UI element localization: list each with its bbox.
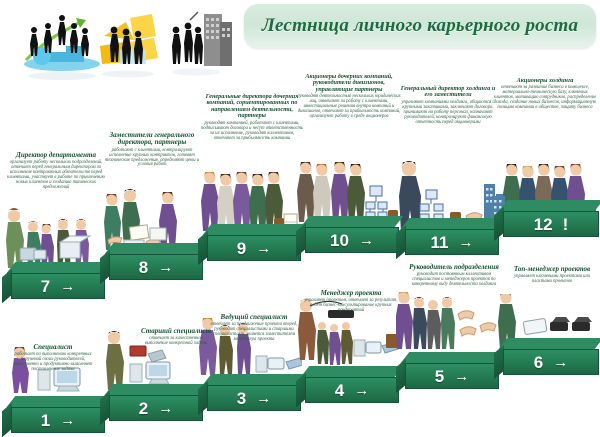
step-8-number: 8	[139, 259, 148, 276]
step-12-body: отвечают за развитие бизнеса в комплексе…	[492, 85, 598, 110]
step-2-title: Старший специалист	[140, 328, 212, 335]
step-9-arrow-icon: →	[256, 241, 271, 256]
step-12-exclamation-icon: !	[563, 216, 569, 233]
step-12-text: Акционеры холдинга отвечают за развитие …	[492, 78, 598, 110]
step-3-number: 3	[237, 390, 246, 407]
step-6-body: управляет ключевыми проектами или пласта…	[508, 274, 596, 284]
step-3-title: Ведущий специалист	[204, 314, 304, 321]
step-4-title: Менеджер проекта	[304, 290, 398, 297]
page-title: Лестница личного карьерного роста	[262, 15, 578, 37]
step-1-arrow-icon: →	[60, 413, 75, 428]
step-9-body: руководят компанией, работают с клиентам…	[200, 121, 304, 141]
step-4-text: Менеджер проекта управляет проектом, отв…	[304, 290, 398, 313]
step-2-arrow-icon: →	[158, 401, 173, 416]
figure-cluster-7	[2, 196, 106, 270]
step-12-number: 12	[534, 216, 553, 233]
step-4-body: управляет проектом, отвечает за результа…	[304, 298, 398, 313]
step-10-arrow-icon: →	[359, 233, 374, 248]
step-6-arrow-icon: →	[553, 355, 568, 370]
step-4-arrow-icon: →	[354, 383, 369, 398]
figure-cluster-5	[396, 292, 500, 352]
step-9-text: Генеральные директора дочерних компаний,…	[200, 94, 304, 141]
step-2-number: 2	[139, 400, 148, 417]
step-7-title: Директор департамента	[6, 152, 106, 159]
step-8-body: работают с клиентами, контролируют испол…	[102, 148, 202, 168]
step-6-number: 6	[534, 354, 543, 371]
step-11-body: управляют компаниями холдинга, общаются …	[398, 100, 498, 125]
step-12-title: Акционеры холдинга	[492, 78, 598, 84]
step-1-number: 1	[41, 412, 50, 429]
step-7-body: организует работу нескольких подразделен…	[6, 160, 106, 190]
step-2-body: отвечает за качественное выполнение конк…	[140, 336, 212, 346]
step-5-body: руководит постоянным коллективом специал…	[408, 272, 500, 287]
step-5-text: Руководитель подразделения руководит пос…	[408, 264, 500, 287]
step-3-arrow-icon: →	[256, 391, 271, 406]
step-1-title: Специалист	[8, 344, 98, 351]
step-11-number: 11	[431, 234, 449, 251]
step-2-text: Старший специалист отвечает за качествен…	[140, 328, 212, 346]
step-8-title: Заместители генерального директора, парт…	[102, 132, 202, 147]
career-ladder-infographic: Директор департамента организует работу …	[0, 0, 600, 436]
step-8-arrow-icon: →	[158, 260, 173, 275]
step-7-arrow-icon: →	[60, 279, 75, 294]
step-10-body: руководят деятельностью нескольких юриди…	[296, 94, 402, 119]
step-6-text: Топ-менеджер проектов управляет ключевым…	[508, 266, 596, 284]
step-3-text: Ведущий специалист отвечает за продвижен…	[204, 314, 304, 342]
step-3-body: отвечает за продвижение проекта вперед, …	[204, 322, 304, 342]
step-7-number: 7	[41, 278, 50, 295]
step-4-number: 4	[335, 382, 344, 399]
step-9-title: Генеральные директора дочерних компаний,…	[200, 94, 304, 120]
step-11-arrow-icon: →	[458, 235, 473, 250]
step-10-number: 10	[330, 232, 349, 249]
step-11-text: Генеральный директор холдинга и его заме…	[398, 86, 498, 125]
step-9-number: 9	[237, 240, 246, 257]
step-1-text: Специалист работает по выполнению конкре…	[8, 344, 98, 372]
step-5-arrow-icon: →	[454, 369, 469, 384]
step-5-number: 5	[435, 368, 444, 385]
step-8-text: Заместители генерального директора, парт…	[102, 132, 202, 167]
step-7-text: Директор департамента организует работу …	[6, 152, 106, 190]
step-11-title: Генеральный директор холдинга и его заме…	[398, 86, 498, 99]
title-banner: Лестница личного карьерного роста	[244, 4, 596, 48]
header-illustration	[20, 8, 235, 86]
step-5-title: Руководитель подразделения	[408, 264, 500, 271]
step-6-title: Топ-менеджер проектов	[508, 266, 596, 273]
step-10-text: Акционеры дочерних компаний, руководител…	[296, 74, 402, 119]
step-10-title: Акционеры дочерних компаний, руководител…	[296, 74, 402, 93]
step-1-body: работает по выполнению конкретных поруче…	[8, 352, 98, 372]
